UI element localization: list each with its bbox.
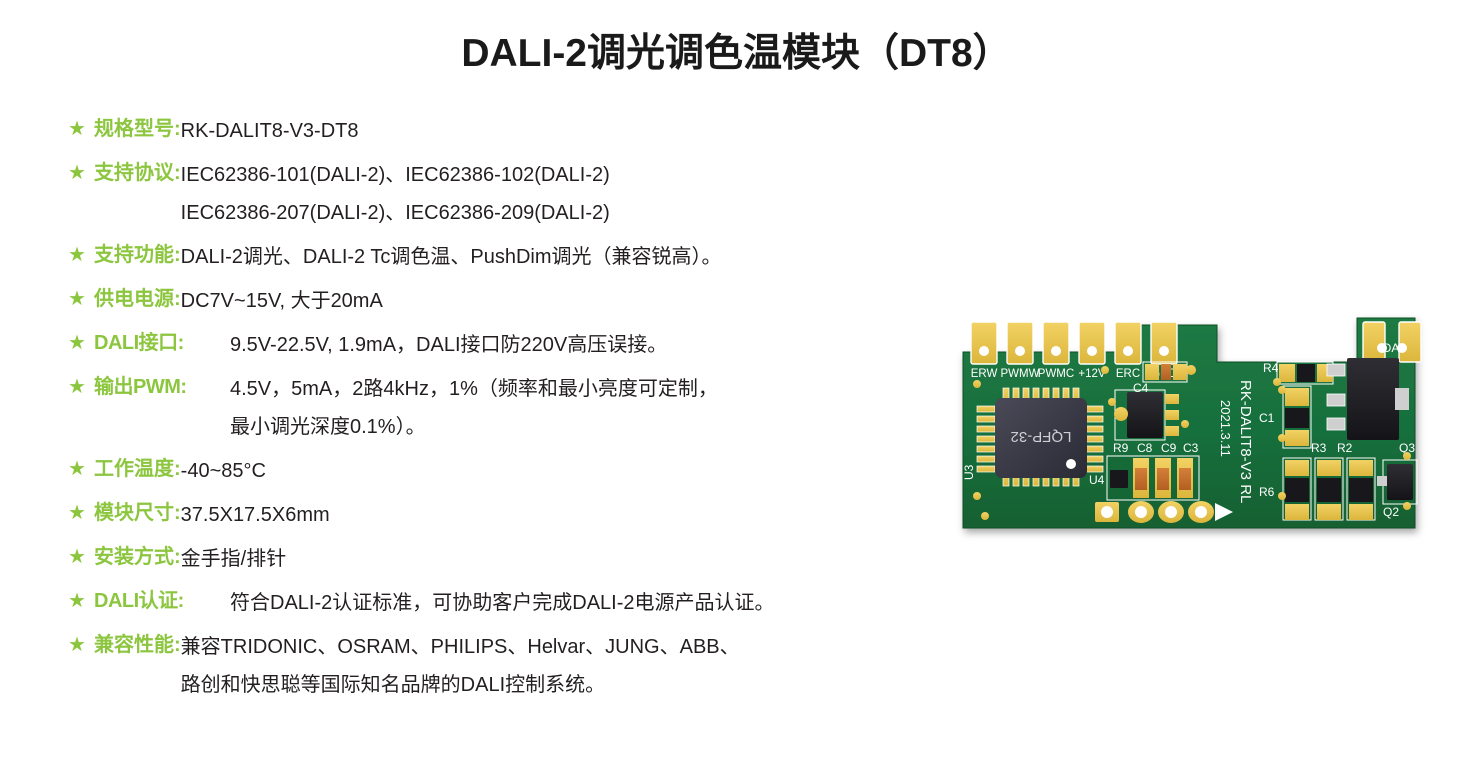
spec-value-line: -40~85°C: [181, 452, 958, 490]
spec-value-line: 4.5V，5mA，2路4kHz，1%（频率和最小亮度可定制，: [230, 370, 958, 408]
star-icon: ★: [68, 282, 94, 316]
page-title: DALI-2调光调色温模块（DT8）: [0, 22, 1473, 78]
designator-c1: C1: [1259, 411, 1275, 425]
designator-r2: R2: [1337, 441, 1353, 455]
star-icon: ★: [68, 112, 94, 146]
board-date: 2021.3.11: [1218, 400, 1233, 457]
board-part-number: RK-DALIT8-V3 RL: [1237, 380, 1254, 503]
designator-c3: C3: [1183, 441, 1199, 455]
star-icon: ★: [68, 628, 94, 662]
pcb-illustration: ERW PWMW PWMC +12V ERC GND DA: [955, 300, 1455, 545]
spec-label: DALI接口:: [94, 326, 230, 360]
spec-value-line: DALI-2调光、DALI-2 Tc调色温、PushDim调光（兼容锐高）。: [181, 238, 958, 276]
star-icon: ★: [68, 156, 94, 190]
spec-values: RK-DALIT8-V3-DT8: [181, 112, 958, 150]
spec-values: DC7V~15V, 大于20mA: [181, 282, 958, 320]
spec-row-compatibility: ★ 兼容性能: 兼容TRIDONIC、OSRAM、PHILIPS、Helvar、…: [68, 628, 958, 704]
spec-label: 兼容性能:: [94, 628, 181, 662]
spec-value-line: DC7V~15V, 大于20mA: [181, 282, 958, 320]
spec-value-line: 最小调光深度0.1%）。: [230, 408, 958, 446]
star-icon: ★: [68, 370, 94, 404]
spec-value-line: IEC62386-207(DALI-2)、IEC62386-209(DALI-2…: [181, 194, 958, 232]
spec-list: ★ 规格型号: RK-DALIT8-V3-DT8 ★ 支持协议: IEC6238…: [68, 112, 958, 710]
pad-label-erw: ERW: [971, 368, 998, 380]
spec-values: DALI-2调光、DALI-2 Tc调色温、PushDim调光（兼容锐高）。: [181, 238, 958, 276]
spec-value-line: 9.5V-22.5V, 1.9mA，DALI接口防220V高压误接。: [230, 326, 958, 364]
spec-row-dali-interface: ★ DALI接口: 9.5V-22.5V, 1.9mA，DALI接口防220V高…: [68, 326, 958, 364]
spec-value-line: 兼容TRIDONIC、OSRAM、PHILIPS、Helvar、JUNG、ABB…: [181, 628, 958, 666]
spec-row-certification: ★ DALI认证: 符合DALI-2认证标准，可协助客户完成DALI-2电源产品…: [68, 584, 958, 622]
star-icon: ★: [68, 496, 94, 530]
designator-u3: U3: [962, 464, 976, 480]
spec-row-function: ★ 支持功能: DALI-2调光、DALI-2 Tc调色温、PushDim调光（…: [68, 238, 958, 276]
designator-r4: R4: [1263, 361, 1279, 375]
spec-value-line: 符合DALI-2认证标准，可协助客户完成DALI-2电源产品认证。: [230, 584, 958, 622]
spec-label: 安装方式:: [94, 540, 181, 574]
spec-row-pwm-output: ★ 输出PWM: 4.5V，5mA，2路4kHz，1%（频率和最小亮度可定制， …: [68, 370, 958, 446]
star-icon: ★: [68, 238, 94, 272]
designator-u4: U4: [1089, 473, 1105, 487]
spec-label: 供电电源:: [94, 282, 181, 316]
pad-label-erc: ERC: [1116, 368, 1140, 380]
spec-row-mounting: ★ 安装方式: 金手指/排针: [68, 540, 958, 578]
spec-label: DALI认证:: [94, 584, 230, 618]
spec-values: -40~85°C: [181, 452, 958, 490]
spec-value-line: 37.5X17.5X6mm: [181, 496, 958, 534]
spec-value-line: 金手指/排针: [181, 540, 958, 578]
star-icon: ★: [68, 452, 94, 486]
spec-value-line: IEC62386-101(DALI-2)、IEC62386-102(DALI-2…: [181, 156, 958, 194]
spec-label: 规格型号:: [94, 112, 181, 146]
designator-q2: Q2: [1383, 505, 1399, 519]
spec-row-temperature: ★ 工作温度: -40~85°C: [68, 452, 958, 490]
spec-values: 符合DALI-2认证标准，可协助客户完成DALI-2电源产品认证。: [230, 584, 958, 622]
spec-label: 输出PWM:: [94, 370, 230, 404]
pad-label-pwmc: PWMC: [1038, 368, 1074, 380]
pad-label-da: DA: [1383, 341, 1400, 355]
designator-r9: R9: [1113, 441, 1129, 455]
star-icon: ★: [68, 540, 94, 574]
spec-row-protocol: ★ 支持协议: IEC62386-101(DALI-2)、IEC62386-10…: [68, 156, 958, 232]
spec-value-line: 路创和快思聪等国际知名品牌的DALI控制系统。: [181, 666, 958, 704]
spec-values: 金手指/排针: [181, 540, 958, 578]
spec-row-dimensions: ★ 模块尺寸: 37.5X17.5X6mm: [68, 496, 958, 534]
spec-values: 9.5V-22.5V, 1.9mA，DALI接口防220V高压误接。: [230, 326, 958, 364]
spec-label: 支持功能:: [94, 238, 181, 272]
spec-label: 模块尺寸:: [94, 496, 181, 530]
product-spec-page: DALI-2调光调色温模块（DT8） ★ 规格型号: RK-DALIT8-V3-…: [0, 0, 1473, 783]
designator-r6: R6: [1259, 485, 1275, 499]
spec-values: 4.5V，5mA，2路4kHz，1%（频率和最小亮度可定制， 最小调光深度0.1…: [230, 370, 958, 446]
spec-label: 工作温度:: [94, 452, 181, 486]
designator-c8: C8: [1137, 441, 1153, 455]
star-icon: ★: [68, 584, 94, 618]
spec-value-line: RK-DALIT8-V3-DT8: [181, 112, 958, 150]
pcb-product-image: ERW PWMW PWMC +12V ERC GND DA: [955, 300, 1455, 545]
pad-label-pwmw: PWMW: [1001, 368, 1040, 380]
star-icon: ★: [68, 326, 94, 360]
pcb-chip-lqfp32: LQFP-32: [977, 388, 1103, 486]
designator-r3: R3: [1311, 441, 1327, 455]
designator-c9: C9: [1161, 441, 1177, 455]
spec-row-model: ★ 规格型号: RK-DALIT8-V3-DT8: [68, 112, 958, 150]
spec-values: 37.5X17.5X6mm: [181, 496, 958, 534]
spec-values: 兼容TRIDONIC、OSRAM、PHILIPS、Helvar、JUNG、ABB…: [181, 628, 958, 704]
spec-row-power: ★ 供电电源: DC7V~15V, 大于20mA: [68, 282, 958, 320]
spec-values: IEC62386-101(DALI-2)、IEC62386-102(DALI-2…: [181, 156, 958, 232]
spec-label: 支持协议:: [94, 156, 181, 190]
chip-label-lqfp32: LQFP-32: [1011, 428, 1072, 445]
